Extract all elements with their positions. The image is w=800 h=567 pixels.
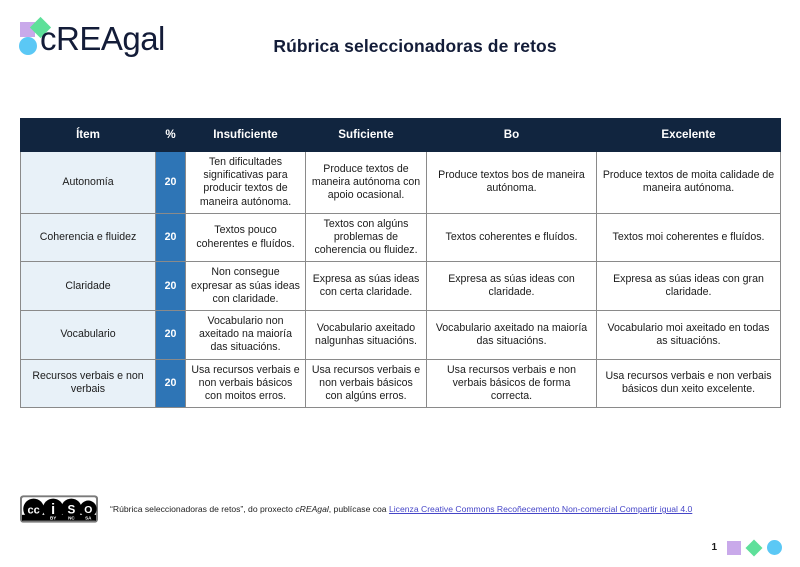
cell-item: Claridade: [21, 262, 156, 311]
cell-suficiente: Expresa as súas ideas con certa claridad…: [306, 262, 427, 311]
cell-item: Coherencia e fluidez: [21, 213, 156, 262]
license-link[interactable]: Licenza Creative Commons Recoñecemento N…: [389, 504, 692, 514]
table-row: Autonomía 20 Ten dificultades significat…: [21, 152, 781, 214]
cell-excelente: Expresa as súas ideas con gran claridade…: [597, 262, 781, 311]
brand-logo: cREAgal: [18, 12, 165, 56]
green-diamond-icon: [746, 539, 763, 556]
cell-suficiente: Textos con algúns problemas de coherenci…: [306, 213, 427, 262]
cell-percent: 20: [156, 359, 186, 408]
page-footer: cc i S O BY NC SA “Rúbrica seleccionador…: [0, 489, 800, 567]
attribution-prefix: “Rúbrica seleccionadoras de retos”, do p…: [110, 504, 295, 514]
page-header: cREAgal Rúbrica seleccionadoras de retos: [0, 0, 800, 92]
page-number: 1: [711, 542, 717, 553]
creative-commons-badge-icon: cc i S O BY NC SA: [20, 495, 98, 523]
column-header-suficiente: Suficiente: [306, 119, 427, 152]
cell-excelente: Vocabulario moi axeitado en todas as sit…: [597, 311, 781, 360]
license-attribution: “Rúbrica seleccionadoras de retos”, do p…: [110, 503, 692, 515]
column-header-percent: %: [156, 119, 186, 152]
cell-percent: 20: [156, 213, 186, 262]
brand-wordmark: cREAgal: [40, 22, 165, 56]
svg-text:cc: cc: [28, 505, 40, 517]
cell-insuficiente: Textos pouco coherentes e fluídos.: [186, 213, 306, 262]
rubric-table: Ítem % Insuficiente Suficiente Bo Excele…: [20, 118, 781, 408]
cell-percent: 20: [156, 311, 186, 360]
cell-percent: 20: [156, 152, 186, 214]
cell-bo: Expresa as súas ideas con claridade.: [427, 262, 597, 311]
license-tag-nc: NC: [68, 516, 75, 521]
svg-text:S: S: [67, 504, 75, 517]
cell-item: Recursos verbais e non verbais: [21, 359, 156, 408]
cell-suficiente: Usa recursos verbais e non verbais básic…: [306, 359, 427, 408]
blue-circle-icon: [767, 540, 782, 555]
cell-excelente: Produce textos de moita calidade de mane…: [597, 152, 781, 214]
cell-insuficiente: Non consegue expresar as súas ideas con …: [186, 262, 306, 311]
table-row: Vocabulario 20 Vocabulario non axeitado …: [21, 311, 781, 360]
attribution-brand: cREAgal: [295, 504, 328, 514]
column-header-excelente: Excelente: [597, 119, 781, 152]
svg-text:O: O: [84, 505, 92, 516]
cell-excelente: Usa recursos verbais e non verbais básic…: [597, 359, 781, 408]
column-header-item: Ítem: [21, 119, 156, 152]
column-header-insuficiente: Insuficiente: [186, 119, 306, 152]
cell-insuficiente: Usa recursos verbais e non verbais básic…: [186, 359, 306, 408]
cell-bo: Usa recursos verbais e non verbais básic…: [427, 359, 597, 408]
cell-excelente: Textos moi coherentes e fluídos.: [597, 213, 781, 262]
cell-bo: Produce textos bos de maneira autónoma.: [427, 152, 597, 214]
cell-suficiente: Vocabulario axeitado nalgunhas situación…: [306, 311, 427, 360]
cell-bo: Textos coherentes e fluídos.: [427, 213, 597, 262]
rubric-table-container: Ítem % Insuficiente Suficiente Bo Excele…: [20, 118, 780, 408]
license-row: cc i S O BY NC SA “Rúbrica seleccionador…: [20, 495, 692, 523]
attribution-mid: , publícase coa: [329, 504, 389, 514]
cell-bo: Vocabulario axeitado na maioría das situ…: [427, 311, 597, 360]
license-tag-by: BY: [50, 516, 56, 521]
cell-suficiente: Produce textos de maneira autónoma con a…: [306, 152, 427, 214]
license-tag-sa: SA: [85, 516, 92, 521]
column-header-bo: Bo: [427, 119, 597, 152]
page-number-marker: 1: [711, 540, 782, 555]
cell-item: Autonomía: [21, 152, 156, 214]
cell-item: Vocabulario: [21, 311, 156, 360]
table-row: Claridade 20 Non consegue expresar as sú…: [21, 262, 781, 311]
table-header-row: Ítem % Insuficiente Suficiente Bo Excele…: [21, 119, 781, 152]
cell-insuficiente: Vocabulario non axeitado na maioría das …: [186, 311, 306, 360]
cell-insuficiente: Ten dificultades significativas para pro…: [186, 152, 306, 214]
cell-percent: 20: [156, 262, 186, 311]
table-row: Coherencia e fluidez 20 Textos pouco coh…: [21, 213, 781, 262]
purple-square-icon: [727, 541, 741, 555]
table-row: Recursos verbais e non verbais 20 Usa re…: [21, 359, 781, 408]
